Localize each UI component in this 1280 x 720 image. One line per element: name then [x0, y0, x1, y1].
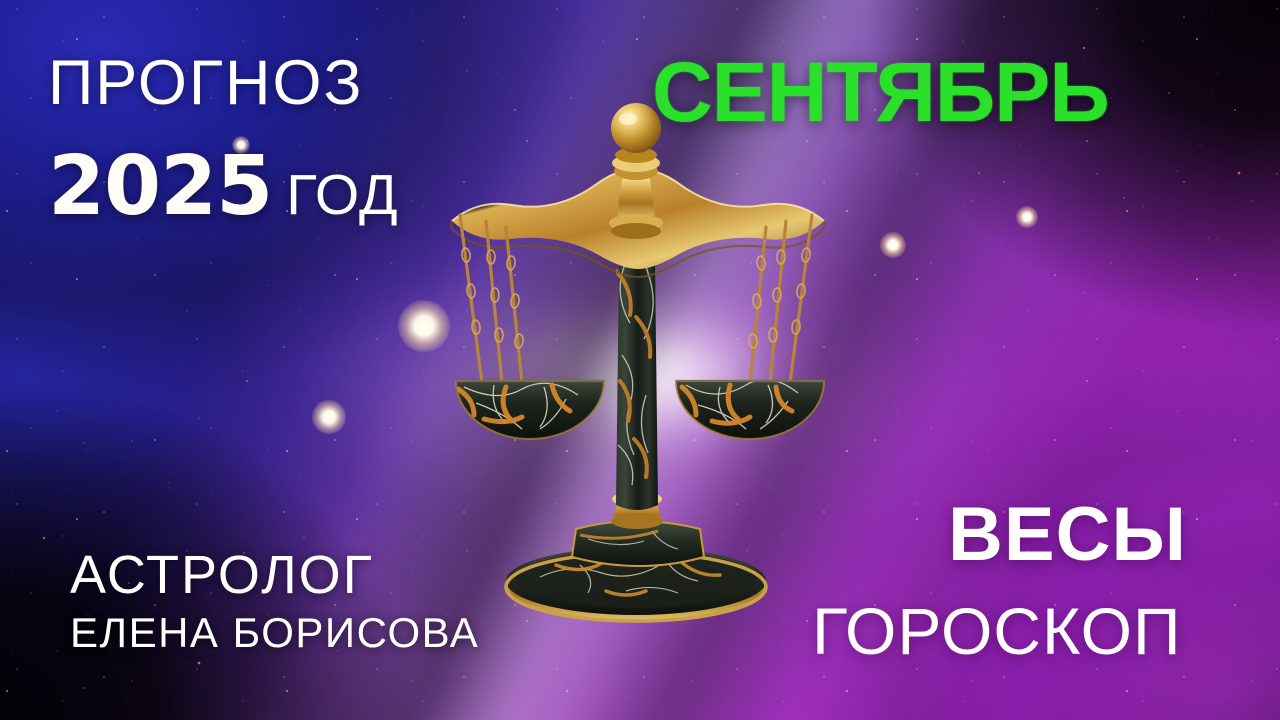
horoscope-poster: ПРОГНОЗ 2025 ГОД СЕНТЯБРЬ АСТРОЛОГ ЕЛЕНА…: [0, 0, 1280, 720]
bright-star-glow: [880, 232, 906, 258]
forecast-label: ПРОГНОЗ: [48, 52, 364, 115]
horoscope-label: ГОРОСКОП: [812, 598, 1181, 664]
astrologer-name: ЕЛЕНА БОРИСОВА: [70, 612, 479, 654]
bright-star-glow: [312, 400, 346, 434]
year-word: ГОД: [286, 167, 398, 224]
month-label: СЕНТЯБРЬ: [652, 50, 1109, 134]
zodiac-sign-label: ВЕСЫ: [948, 497, 1187, 573]
year-number: 2025: [48, 146, 272, 228]
bright-star-glow: [1016, 206, 1038, 228]
scales-base: [506, 491, 766, 621]
scales-pan-right: [676, 380, 824, 439]
scales-pan-left: [456, 381, 604, 439]
astrologer-role-label: АСТРОЛОГ: [70, 548, 374, 602]
libra-scales-graphic: [430, 95, 850, 635]
year-line: 2025 ГОД: [48, 146, 399, 228]
